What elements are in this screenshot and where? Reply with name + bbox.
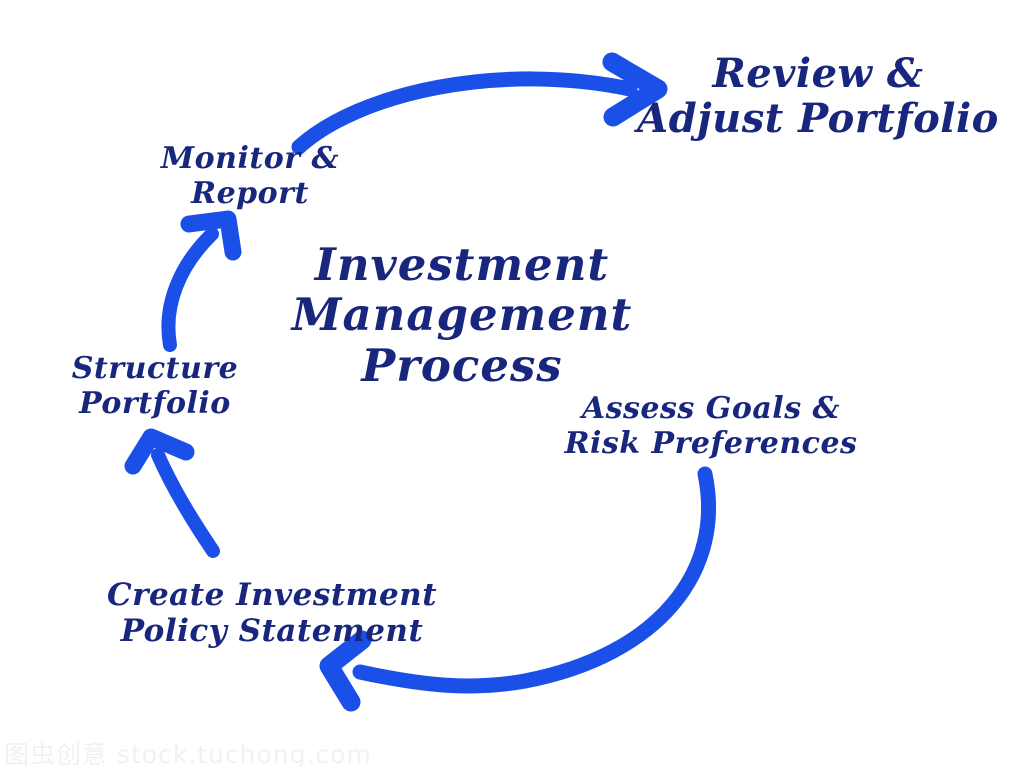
step-label-create-investment-policy-statement-line-2: Policy Statement xyxy=(92,614,452,650)
arrow-structure-to-monitor-shaft xyxy=(168,234,212,345)
step-label-monitor-report: Monitor & Report xyxy=(144,142,356,211)
step-label-monitor-report-line-1: Monitor & xyxy=(144,142,356,177)
arrow-create-to-structure xyxy=(133,437,213,551)
arrow-structure-to-monitor xyxy=(168,219,233,345)
step-label-monitor-report-line-2: Report xyxy=(144,177,356,212)
step-label-create-investment-policy-statement: Create Investment Policy Statement xyxy=(92,578,452,649)
arrow-create-to-structure-shaft xyxy=(158,455,213,551)
page-title-line-1: Investment xyxy=(232,240,692,290)
investment-management-process-diagram: Investment Management Process Review & A… xyxy=(0,0,1024,766)
step-label-assess-goals-risk: Assess Goals & Risk Preferences xyxy=(556,392,866,461)
step-label-review-adjust-portfolio-line-2: Adjust Portfolio xyxy=(612,97,1024,142)
step-label-structure-portfolio: Structure Portfolio xyxy=(52,352,258,421)
step-label-review-adjust-portfolio-line-1: Review & xyxy=(612,52,1024,97)
arrow-monitor-to-review-shaft xyxy=(299,79,630,147)
step-label-assess-goals-risk-line-2: Risk Preferences xyxy=(556,427,866,462)
arrow-monitor-to-review xyxy=(299,62,658,147)
step-label-assess-goals-risk-line-1: Assess Goals & xyxy=(556,392,866,427)
step-label-structure-portfolio-line-1: Structure xyxy=(52,352,258,387)
step-label-structure-portfolio-line-2: Portfolio xyxy=(52,387,258,422)
page-title: Investment Management Process xyxy=(232,240,692,391)
page-title-line-3: Process xyxy=(232,341,692,391)
watermark: 图虫创意 stock.tuchong.com xyxy=(4,735,372,766)
page-title-line-2: Management xyxy=(232,290,692,340)
step-label-review-adjust-portfolio: Review & Adjust Portfolio xyxy=(612,52,1024,142)
step-label-create-investment-policy-statement-line-1: Create Investment xyxy=(92,578,452,614)
